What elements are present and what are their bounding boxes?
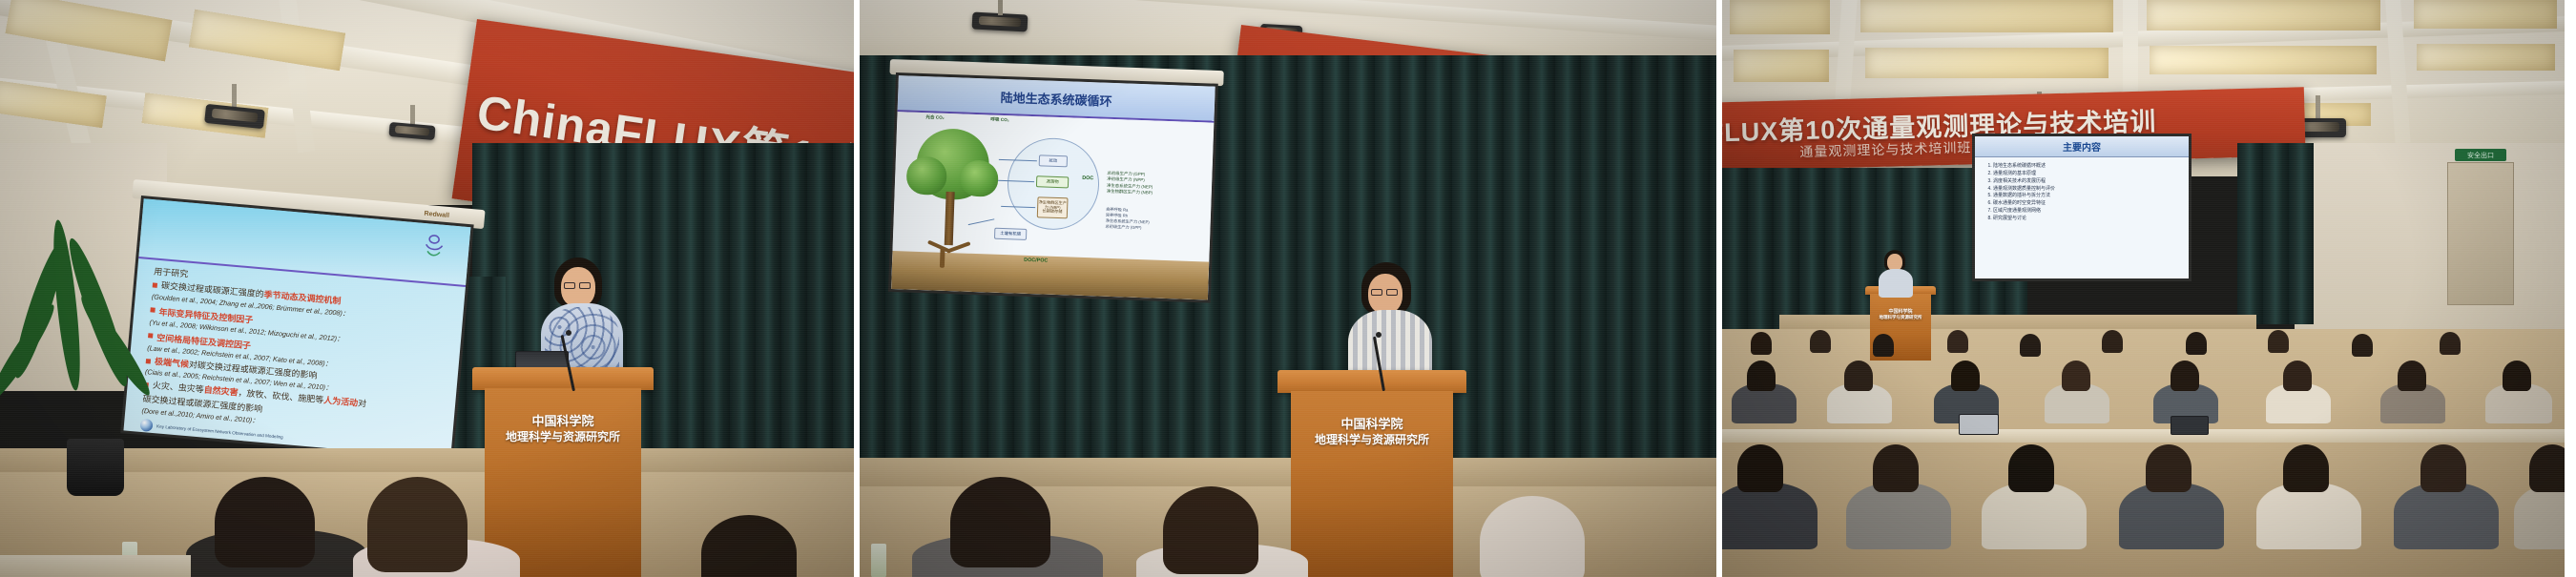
audience-member-head [1163, 486, 1258, 574]
ceiling-light-panel [2147, 0, 2380, 31]
speaker-glasses-icon [1386, 289, 1398, 296]
podium-sign-line-1: 中国科学院 [531, 414, 593, 430]
exit-door [2447, 162, 2514, 305]
audience-member-head [2062, 361, 2090, 391]
slide-title: 主要内容 [2063, 139, 2101, 154]
screen-brand-label: Redwall [424, 211, 449, 219]
photosynthesis-label: 光合 CO₂ [925, 114, 945, 121]
audience-area [1722, 315, 2565, 577]
bullet-square-icon [151, 307, 156, 312]
stage-curtain [2237, 143, 2314, 324]
audience-member-head [2529, 444, 2565, 492]
agenda-row: 7. 区域尺度通量观测网络 [1987, 208, 2180, 216]
audience-member-head [1810, 330, 1831, 353]
banner-subtitle: 通量观测理论与技术培训班 [1799, 137, 1971, 161]
audience-table [0, 555, 191, 577]
bullet-highlight: 极端气候 [155, 356, 190, 368]
doc-label: DOC [1082, 175, 1093, 181]
ceiling-light-panel [1734, 50, 1829, 82]
speaker [1873, 250, 1919, 294]
agenda-row: 5. 通量数据的插补与拆分方法 [1987, 193, 2180, 200]
microphone-head-icon [566, 330, 571, 336]
node-longterm-label: 长期碳存储 [1042, 210, 1062, 215]
audience-member-head [950, 477, 1050, 567]
water-bottle [871, 544, 886, 577]
audience-member-head [1951, 361, 1980, 391]
diagram-node-gpp: 扰动 [1039, 155, 1068, 167]
bullet-highlight: 自然灾害 [203, 384, 239, 397]
microphone-head-icon [1376, 332, 1381, 338]
ceiling-light-panel [1865, 48, 2109, 78]
audience-member-body [1722, 483, 1818, 549]
audience-member-head [2020, 334, 2041, 357]
projector-mount-rod [2316, 95, 2320, 120]
audience-table [1722, 429, 2565, 443]
slide-title-band: 主要内容 [1975, 136, 2189, 157]
audience-member-head [2398, 361, 2426, 391]
agenda-row: 3. 涡度相关技术的发展历程 [1987, 178, 2180, 186]
agenda-row: 2. 通量观测的基本原理 [1987, 171, 2180, 178]
audience-member-head [2503, 361, 2531, 391]
audience-member-head [2268, 330, 2289, 353]
slide-title: 陆地生态系统碳循环 [1000, 87, 1112, 109]
podium-sign-line-2: 地理科学与资源研究所 [506, 430, 620, 445]
slide-agenda-list: 1. 陆地生态系统碳循环概述 2. 通量观测的基本原理 3. 涡度相关技术的发展… [1987, 163, 2180, 273]
audience-member-head [2283, 361, 2312, 391]
audience-member-head [2352, 334, 2373, 357]
speaker-glasses-icon [579, 282, 591, 289]
audience-member-head [2420, 444, 2466, 492]
audience-member-body [2394, 483, 2499, 549]
audience-member-head [2102, 330, 2123, 353]
audience-member-body [2514, 483, 2565, 549]
respiration-label: 呼吸 CO₂ [990, 117, 1009, 124]
lab-logo-icon [140, 418, 154, 431]
speaker-glasses-icon [1371, 289, 1382, 296]
tree-trunk-shape [945, 192, 955, 245]
diagram-arrow [968, 218, 995, 225]
audience-member-head [1947, 330, 1968, 353]
audience-laptop [1959, 414, 1999, 435]
ceiling-light-panel [1860, 0, 2113, 32]
audience-member-head [2008, 444, 2054, 492]
audience-member-head [1844, 361, 1873, 391]
soil-layer [891, 251, 1209, 300]
ceiling-light-panel [2414, 0, 2557, 29]
audience-member-head [1873, 334, 1894, 357]
doc-poc-label: DOC/POC [1024, 258, 1048, 264]
audience-member-head [367, 477, 467, 572]
projector-mount-rod [410, 105, 415, 126]
tree-crown-shape [960, 160, 999, 197]
audience-member-head [2440, 332, 2461, 355]
speaker-glasses-icon [564, 282, 575, 289]
diagram-node-nbp: 净生物群区生产力 (NBP) 长期碳存储 [1037, 196, 1069, 218]
projection-screen-frame: 用于研究 碳交换过程或碳源汇强度的季节动态及调控机制 (Goulden et a… [120, 196, 473, 463]
ceiling-light-panel [2150, 46, 2377, 74]
podium-sign: 中国科学院 地理科学与资源研究所 [472, 407, 654, 451]
audience-member-body [1982, 483, 2087, 549]
audience-member-head [2146, 444, 2192, 492]
podium-sign-line-1: 中国科学院 [1340, 417, 1402, 433]
projector-mount-rod [998, 0, 1003, 15]
bullet-square-icon [146, 359, 151, 363]
side-list-item: 总初级生产力 (GPP) [1105, 224, 1149, 232]
projection-screen-frame: 主要内容 1. 陆地生态系统碳循环概述 2. 通量观测的基本原理 3. 涡度相关… [1972, 134, 2192, 281]
projection-screen-surface: 陆地生态系统碳循环 光合 CO₂ 呼吸 CO₂ 扰动 凋落物 [891, 75, 1215, 299]
potted-plant-pot [67, 439, 124, 496]
agenda-row: 6. 碳水通量的时空变异特征 [1987, 200, 2180, 208]
bullet-square-icon [148, 333, 153, 338]
podium-sign: 中国科学院 地理科学与资源研究所 [1278, 410, 1466, 454]
podium: 中国科学院 地理科学与资源研究所 [1278, 370, 1466, 577]
audience-member-head [1751, 332, 1772, 355]
projection-screen-surface: 用于研究 碳交换过程或碳源汇强度的季节动态及调控机制 (Goulden et a… [123, 198, 470, 459]
photo-collage: ChinaFLUX第10次通量观 Redwall 用于研究 [0, 0, 2576, 577]
speaker [1337, 262, 1442, 381]
audience-member-head [1480, 496, 1585, 577]
tree-crown-shape [906, 156, 947, 196]
audience-member-head [215, 477, 315, 567]
audience-member-head [2283, 444, 2329, 492]
diagram-node-npp: 凋落物 [1036, 175, 1069, 188]
speaker-torso [1879, 269, 1913, 298]
projection-screen-frame: 陆地生态系统碳循环 光合 CO₂ 呼吸 CO₂ 扰动 凋落物 [888, 72, 1218, 303]
agenda-row: 1. 陆地生态系统碳循环概述 [1987, 163, 2180, 171]
audience-member-head [1873, 444, 1919, 492]
audience-member-body [2119, 483, 2224, 549]
side-list-item: 净生物群区生产力 (NBP) [1107, 189, 1153, 196]
ceiling-light-panel [1730, 0, 1830, 34]
diagram-node-soil: 土壤有机碳 [994, 228, 1027, 240]
podium-desktop [1278, 370, 1466, 393]
diagram-side-list-extra: 自养呼吸 Ra 异养呼吸 Rh 净生态系统生产力 (NEP) 总初级生产力 (G… [1105, 207, 1150, 232]
bullet-square-icon [153, 283, 157, 288]
agenda-row: 8. 研究展望与讨论 [1987, 216, 2180, 223]
institute-emblem-icon [420, 231, 447, 261]
audience-member-body [1846, 483, 1951, 549]
audience-laptop [2171, 416, 2209, 435]
podium-sign-line-2: 地理科学与资源研究所 [1315, 433, 1429, 448]
audience-member-head [2186, 332, 2207, 355]
bullet-suffix-2: 对 [358, 398, 367, 408]
audience-member-body [2256, 483, 2361, 549]
photo-panel-left: ChinaFLUX第10次通量观 Redwall 用于研究 [0, 0, 854, 577]
slide-body: 用于研究 碳交换过程或碳源汇强度的季节动态及调控机制 (Goulden et a… [140, 265, 455, 454]
back-wall [2295, 143, 2565, 334]
projector-mount-rod [232, 84, 237, 109]
exit-sign: 安全出口 [2455, 149, 2506, 161]
ceiling-light-panel [2417, 44, 2555, 71]
slide-diagram-canvas: 光合 CO₂ 呼吸 CO₂ 扰动 凋落物 净生物群区生产力 (NBP) 长期碳存… [891, 112, 1214, 299]
podium-desktop [472, 367, 654, 390]
diagram-side-list: 总初级生产力 (GPP) 净初级生产力 (NPP) 净生态系统生产力 (NEP)… [1107, 171, 1153, 196]
audience-member-head [2171, 361, 2199, 391]
audience-member-head [1747, 361, 1776, 391]
photo-panel-middle: ChinaFLUX第10次通量观 陆地生态系统碳循环 [854, 0, 1722, 577]
audience-member-head [1737, 444, 1783, 492]
photo-panel-right: FLUX第10次通量观测理论与技术培训 通量观测理论与技术培训班 安全出口 主要… [1722, 0, 2565, 577]
tree-root-shape [940, 247, 945, 268]
projection-screen-surface: 主要内容 1. 陆地生态系统碳循环概述 2. 通量观测的基本原理 3. 涡度相关… [1975, 136, 2189, 278]
bullet-highlight-2: 人为活动 [323, 395, 359, 407]
